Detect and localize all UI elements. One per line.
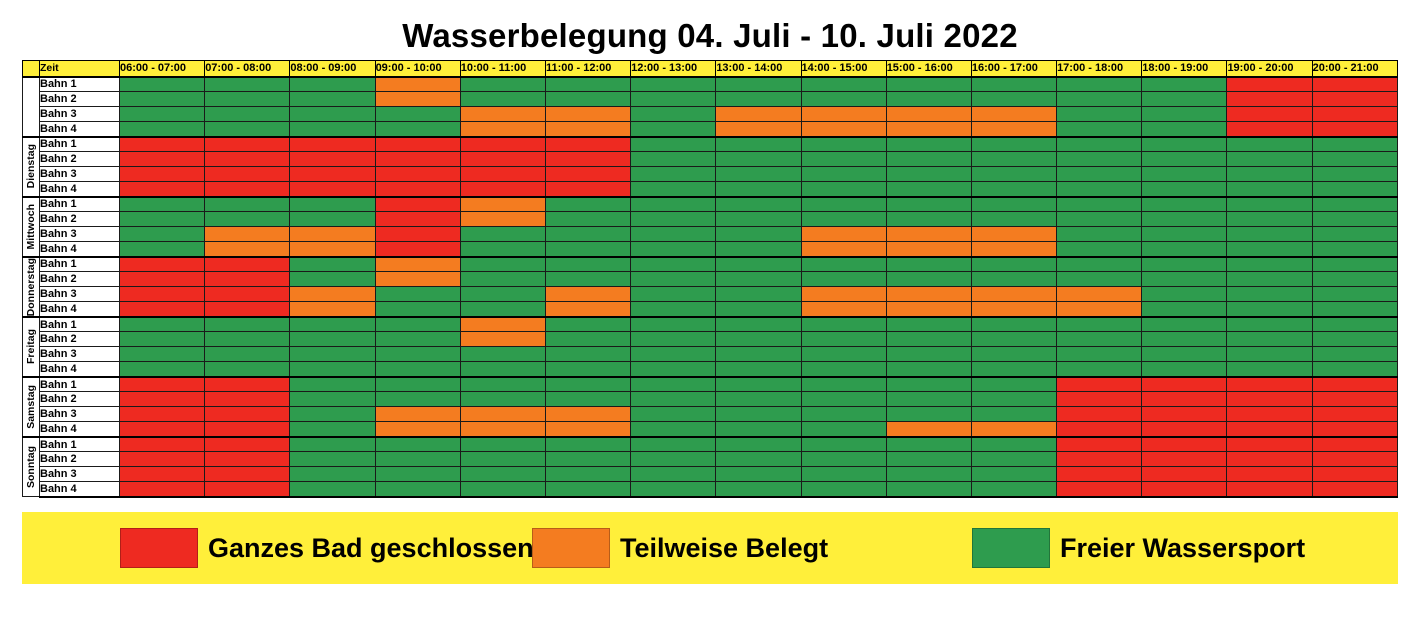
slot-cell[interactable] xyxy=(801,392,886,407)
slot-cell[interactable] xyxy=(1142,287,1227,302)
slot-cell[interactable] xyxy=(1142,452,1227,467)
slot-cell[interactable] xyxy=(545,347,630,362)
slot-cell[interactable] xyxy=(631,77,716,92)
slot-cell[interactable] xyxy=(886,167,971,182)
slot-cell[interactable] xyxy=(1312,212,1397,227)
slot-cell[interactable] xyxy=(375,347,460,362)
slot-cell[interactable] xyxy=(801,347,886,362)
slot-cell[interactable] xyxy=(1227,257,1312,272)
slot-cell[interactable] xyxy=(631,257,716,272)
slot-cell[interactable] xyxy=(1057,92,1142,107)
slot-cell[interactable] xyxy=(716,347,801,362)
slot-cell[interactable] xyxy=(1142,227,1227,242)
slot-cell[interactable] xyxy=(1227,287,1312,302)
slot-cell[interactable] xyxy=(120,272,205,287)
slot-cell[interactable] xyxy=(886,302,971,317)
slot-cell[interactable] xyxy=(631,437,716,452)
slot-cell[interactable] xyxy=(1227,392,1312,407)
slot-cell[interactable] xyxy=(460,137,545,152)
slot-cell[interactable] xyxy=(1142,347,1227,362)
slot-cell[interactable] xyxy=(716,257,801,272)
slot-cell[interactable] xyxy=(886,77,971,92)
slot-cell[interactable] xyxy=(290,467,375,482)
slot-cell[interactable] xyxy=(1142,302,1227,317)
slot-cell[interactable] xyxy=(290,137,375,152)
slot-cell[interactable] xyxy=(205,362,290,377)
slot-cell[interactable] xyxy=(460,332,545,347)
slot-cell[interactable] xyxy=(375,152,460,167)
slot-cell[interactable] xyxy=(801,272,886,287)
slot-cell[interactable] xyxy=(1227,107,1312,122)
slot-cell[interactable] xyxy=(460,287,545,302)
slot-cell[interactable] xyxy=(886,407,971,422)
slot-cell[interactable] xyxy=(545,272,630,287)
slot-cell[interactable] xyxy=(120,257,205,272)
slot-cell[interactable] xyxy=(120,302,205,317)
slot-cell[interactable] xyxy=(290,257,375,272)
slot-cell[interactable] xyxy=(1057,377,1142,392)
slot-cell[interactable] xyxy=(205,452,290,467)
slot-cell[interactable] xyxy=(1312,197,1397,212)
slot-cell[interactable] xyxy=(375,242,460,257)
slot-cell[interactable] xyxy=(716,242,801,257)
slot-cell[interactable] xyxy=(375,182,460,197)
slot-cell[interactable] xyxy=(120,377,205,392)
slot-cell[interactable] xyxy=(205,347,290,362)
slot-cell[interactable] xyxy=(290,422,375,437)
slot-cell[interactable] xyxy=(801,407,886,422)
slot-cell[interactable] xyxy=(1227,332,1312,347)
slot-cell[interactable] xyxy=(545,482,630,497)
slot-cell[interactable] xyxy=(886,317,971,332)
slot-cell[interactable] xyxy=(716,182,801,197)
slot-cell[interactable] xyxy=(290,107,375,122)
slot-cell[interactable] xyxy=(375,122,460,137)
slot-cell[interactable] xyxy=(631,167,716,182)
slot-cell[interactable] xyxy=(1142,377,1227,392)
slot-cell[interactable] xyxy=(1057,77,1142,92)
slot-cell[interactable] xyxy=(1227,347,1312,362)
slot-cell[interactable] xyxy=(120,197,205,212)
slot-cell[interactable] xyxy=(205,422,290,437)
slot-cell[interactable] xyxy=(1227,212,1312,227)
slot-cell[interactable] xyxy=(1227,167,1312,182)
slot-cell[interactable] xyxy=(971,422,1056,437)
slot-cell[interactable] xyxy=(1057,167,1142,182)
slot-cell[interactable] xyxy=(1227,482,1312,497)
slot-cell[interactable] xyxy=(1057,467,1142,482)
slot-cell[interactable] xyxy=(1312,107,1397,122)
slot-cell[interactable] xyxy=(801,107,886,122)
slot-cell[interactable] xyxy=(460,407,545,422)
slot-cell[interactable] xyxy=(1312,77,1397,92)
slot-cell[interactable] xyxy=(545,377,630,392)
slot-cell[interactable] xyxy=(290,122,375,137)
slot-cell[interactable] xyxy=(290,482,375,497)
slot-cell[interactable] xyxy=(1312,317,1397,332)
slot-cell[interactable] xyxy=(545,437,630,452)
slot-cell[interactable] xyxy=(205,317,290,332)
slot-cell[interactable] xyxy=(886,347,971,362)
slot-cell[interactable] xyxy=(545,167,630,182)
slot-cell[interactable] xyxy=(460,92,545,107)
slot-cell[interactable] xyxy=(205,482,290,497)
slot-cell[interactable] xyxy=(120,152,205,167)
slot-cell[interactable] xyxy=(971,182,1056,197)
slot-cell[interactable] xyxy=(375,257,460,272)
slot-cell[interactable] xyxy=(1057,107,1142,122)
slot-cell[interactable] xyxy=(631,377,716,392)
slot-cell[interactable] xyxy=(1312,287,1397,302)
slot-cell[interactable] xyxy=(205,407,290,422)
slot-cell[interactable] xyxy=(631,242,716,257)
slot-cell[interactable] xyxy=(375,452,460,467)
slot-cell[interactable] xyxy=(1227,197,1312,212)
slot-cell[interactable] xyxy=(1057,302,1142,317)
slot-cell[interactable] xyxy=(460,152,545,167)
slot-cell[interactable] xyxy=(886,92,971,107)
slot-cell[interactable] xyxy=(801,452,886,467)
slot-cell[interactable] xyxy=(545,152,630,167)
slot-cell[interactable] xyxy=(205,182,290,197)
slot-cell[interactable] xyxy=(290,392,375,407)
slot-cell[interactable] xyxy=(545,92,630,107)
slot-cell[interactable] xyxy=(971,212,1056,227)
slot-cell[interactable] xyxy=(886,122,971,137)
slot-cell[interactable] xyxy=(290,407,375,422)
slot-cell[interactable] xyxy=(1057,392,1142,407)
slot-cell[interactable] xyxy=(375,467,460,482)
slot-cell[interactable] xyxy=(801,377,886,392)
slot-cell[interactable] xyxy=(716,422,801,437)
slot-cell[interactable] xyxy=(1227,317,1312,332)
slot-cell[interactable] xyxy=(631,122,716,137)
slot-cell[interactable] xyxy=(460,422,545,437)
slot-cell[interactable] xyxy=(205,122,290,137)
slot-cell[interactable] xyxy=(460,302,545,317)
slot-cell[interactable] xyxy=(886,392,971,407)
slot-cell[interactable] xyxy=(631,197,716,212)
slot-cell[interactable] xyxy=(631,137,716,152)
slot-cell[interactable] xyxy=(631,302,716,317)
slot-cell[interactable] xyxy=(1057,437,1142,452)
slot-cell[interactable] xyxy=(120,77,205,92)
slot-cell[interactable] xyxy=(375,392,460,407)
slot-cell[interactable] xyxy=(375,317,460,332)
slot-cell[interactable] xyxy=(716,452,801,467)
slot-cell[interactable] xyxy=(801,362,886,377)
slot-cell[interactable] xyxy=(1312,332,1397,347)
slot-cell[interactable] xyxy=(290,362,375,377)
slot-cell[interactable] xyxy=(205,227,290,242)
slot-cell[interactable] xyxy=(1227,92,1312,107)
slot-cell[interactable] xyxy=(120,422,205,437)
slot-cell[interactable] xyxy=(290,182,375,197)
slot-cell[interactable] xyxy=(1142,317,1227,332)
slot-cell[interactable] xyxy=(1312,302,1397,317)
slot-cell[interactable] xyxy=(545,302,630,317)
slot-cell[interactable] xyxy=(801,77,886,92)
slot-cell[interactable] xyxy=(205,77,290,92)
slot-cell[interactable] xyxy=(375,302,460,317)
slot-cell[interactable] xyxy=(1312,92,1397,107)
slot-cell[interactable] xyxy=(1227,137,1312,152)
slot-cell[interactable] xyxy=(120,467,205,482)
slot-cell[interactable] xyxy=(1227,422,1312,437)
slot-cell[interactable] xyxy=(971,332,1056,347)
slot-cell[interactable] xyxy=(120,362,205,377)
slot-cell[interactable] xyxy=(120,167,205,182)
slot-cell[interactable] xyxy=(886,287,971,302)
slot-cell[interactable] xyxy=(460,197,545,212)
slot-cell[interactable] xyxy=(1142,257,1227,272)
slot-cell[interactable] xyxy=(290,92,375,107)
slot-cell[interactable] xyxy=(460,227,545,242)
slot-cell[interactable] xyxy=(886,467,971,482)
slot-cell[interactable] xyxy=(801,257,886,272)
slot-cell[interactable] xyxy=(631,107,716,122)
slot-cell[interactable] xyxy=(1312,122,1397,137)
slot-cell[interactable] xyxy=(971,92,1056,107)
slot-cell[interactable] xyxy=(631,272,716,287)
slot-cell[interactable] xyxy=(120,347,205,362)
slot-cell[interactable] xyxy=(460,377,545,392)
slot-cell[interactable] xyxy=(631,332,716,347)
slot-cell[interactable] xyxy=(1142,332,1227,347)
slot-cell[interactable] xyxy=(460,107,545,122)
slot-cell[interactable] xyxy=(1142,152,1227,167)
slot-cell[interactable] xyxy=(1057,347,1142,362)
slot-cell[interactable] xyxy=(886,272,971,287)
slot-cell[interactable] xyxy=(716,362,801,377)
slot-cell[interactable] xyxy=(545,212,630,227)
slot-cell[interactable] xyxy=(716,302,801,317)
slot-cell[interactable] xyxy=(1142,392,1227,407)
slot-cell[interactable] xyxy=(631,212,716,227)
slot-cell[interactable] xyxy=(375,107,460,122)
slot-cell[interactable] xyxy=(1142,182,1227,197)
slot-cell[interactable] xyxy=(1227,272,1312,287)
slot-cell[interactable] xyxy=(120,182,205,197)
slot-cell[interactable] xyxy=(716,482,801,497)
slot-cell[interactable] xyxy=(460,182,545,197)
slot-cell[interactable] xyxy=(120,287,205,302)
slot-cell[interactable] xyxy=(716,92,801,107)
slot-cell[interactable] xyxy=(801,92,886,107)
slot-cell[interactable] xyxy=(631,407,716,422)
slot-cell[interactable] xyxy=(545,227,630,242)
slot-cell[interactable] xyxy=(545,467,630,482)
slot-cell[interactable] xyxy=(375,272,460,287)
slot-cell[interactable] xyxy=(1227,77,1312,92)
slot-cell[interactable] xyxy=(886,422,971,437)
slot-cell[interactable] xyxy=(1142,167,1227,182)
slot-cell[interactable] xyxy=(801,317,886,332)
slot-cell[interactable] xyxy=(631,362,716,377)
slot-cell[interactable] xyxy=(460,467,545,482)
slot-cell[interactable] xyxy=(375,377,460,392)
slot-cell[interactable] xyxy=(971,77,1056,92)
slot-cell[interactable] xyxy=(716,467,801,482)
slot-cell[interactable] xyxy=(886,377,971,392)
slot-cell[interactable] xyxy=(631,152,716,167)
slot-cell[interactable] xyxy=(1312,272,1397,287)
slot-cell[interactable] xyxy=(545,287,630,302)
slot-cell[interactable] xyxy=(1142,362,1227,377)
slot-cell[interactable] xyxy=(631,182,716,197)
slot-cell[interactable] xyxy=(1057,122,1142,137)
slot-cell[interactable] xyxy=(290,332,375,347)
slot-cell[interactable] xyxy=(375,422,460,437)
slot-cell[interactable] xyxy=(460,317,545,332)
slot-cell[interactable] xyxy=(1142,212,1227,227)
slot-cell[interactable] xyxy=(120,332,205,347)
slot-cell[interactable] xyxy=(375,407,460,422)
slot-cell[interactable] xyxy=(375,227,460,242)
slot-cell[interactable] xyxy=(205,242,290,257)
slot-cell[interactable] xyxy=(460,392,545,407)
slot-cell[interactable] xyxy=(545,257,630,272)
slot-cell[interactable] xyxy=(120,317,205,332)
slot-cell[interactable] xyxy=(545,422,630,437)
slot-cell[interactable] xyxy=(205,167,290,182)
slot-cell[interactable] xyxy=(971,272,1056,287)
slot-cell[interactable] xyxy=(886,482,971,497)
slot-cell[interactable] xyxy=(971,317,1056,332)
slot-cell[interactable] xyxy=(460,257,545,272)
slot-cell[interactable] xyxy=(205,212,290,227)
slot-cell[interactable] xyxy=(716,377,801,392)
slot-cell[interactable] xyxy=(1057,452,1142,467)
slot-cell[interactable] xyxy=(631,482,716,497)
slot-cell[interactable] xyxy=(1142,92,1227,107)
slot-cell[interactable] xyxy=(1057,287,1142,302)
slot-cell[interactable] xyxy=(1312,467,1397,482)
slot-cell[interactable] xyxy=(631,317,716,332)
slot-cell[interactable] xyxy=(290,272,375,287)
slot-cell[interactable] xyxy=(971,437,1056,452)
slot-cell[interactable] xyxy=(120,107,205,122)
slot-cell[interactable] xyxy=(545,77,630,92)
slot-cell[interactable] xyxy=(971,287,1056,302)
slot-cell[interactable] xyxy=(460,167,545,182)
slot-cell[interactable] xyxy=(971,392,1056,407)
slot-cell[interactable] xyxy=(1312,482,1397,497)
slot-cell[interactable] xyxy=(1057,332,1142,347)
slot-cell[interactable] xyxy=(460,242,545,257)
slot-cell[interactable] xyxy=(1227,152,1312,167)
slot-cell[interactable] xyxy=(1057,197,1142,212)
slot-cell[interactable] xyxy=(1057,242,1142,257)
slot-cell[interactable] xyxy=(290,317,375,332)
slot-cell[interactable] xyxy=(971,377,1056,392)
slot-cell[interactable] xyxy=(1312,437,1397,452)
slot-cell[interactable] xyxy=(205,302,290,317)
slot-cell[interactable] xyxy=(1227,302,1312,317)
slot-cell[interactable] xyxy=(716,272,801,287)
slot-cell[interactable] xyxy=(971,242,1056,257)
slot-cell[interactable] xyxy=(290,167,375,182)
slot-cell[interactable] xyxy=(375,197,460,212)
slot-cell[interactable] xyxy=(460,347,545,362)
slot-cell[interactable] xyxy=(716,317,801,332)
slot-cell[interactable] xyxy=(971,467,1056,482)
slot-cell[interactable] xyxy=(460,212,545,227)
slot-cell[interactable] xyxy=(120,137,205,152)
slot-cell[interactable] xyxy=(631,92,716,107)
slot-cell[interactable] xyxy=(375,167,460,182)
slot-cell[interactable] xyxy=(716,197,801,212)
slot-cell[interactable] xyxy=(801,137,886,152)
slot-cell[interactable] xyxy=(1312,227,1397,242)
slot-cell[interactable] xyxy=(801,122,886,137)
slot-cell[interactable] xyxy=(290,377,375,392)
slot-cell[interactable] xyxy=(545,137,630,152)
slot-cell[interactable] xyxy=(1312,392,1397,407)
slot-cell[interactable] xyxy=(290,287,375,302)
slot-cell[interactable] xyxy=(205,257,290,272)
slot-cell[interactable] xyxy=(631,422,716,437)
slot-cell[interactable] xyxy=(631,227,716,242)
slot-cell[interactable] xyxy=(1057,227,1142,242)
slot-cell[interactable] xyxy=(375,287,460,302)
slot-cell[interactable] xyxy=(631,287,716,302)
slot-cell[interactable] xyxy=(1142,137,1227,152)
slot-cell[interactable] xyxy=(375,77,460,92)
slot-cell[interactable] xyxy=(886,437,971,452)
slot-cell[interactable] xyxy=(971,152,1056,167)
slot-cell[interactable] xyxy=(375,482,460,497)
slot-cell[interactable] xyxy=(460,122,545,137)
slot-cell[interactable] xyxy=(886,242,971,257)
slot-cell[interactable] xyxy=(716,332,801,347)
slot-cell[interactable] xyxy=(1227,437,1312,452)
slot-cell[interactable] xyxy=(1312,167,1397,182)
slot-cell[interactable] xyxy=(1312,182,1397,197)
slot-cell[interactable] xyxy=(801,182,886,197)
slot-cell[interactable] xyxy=(205,392,290,407)
slot-cell[interactable] xyxy=(886,137,971,152)
slot-cell[interactable] xyxy=(290,212,375,227)
slot-cell[interactable] xyxy=(1312,152,1397,167)
slot-cell[interactable] xyxy=(716,107,801,122)
slot-cell[interactable] xyxy=(1312,377,1397,392)
slot-cell[interactable] xyxy=(460,77,545,92)
slot-cell[interactable] xyxy=(1057,272,1142,287)
slot-cell[interactable] xyxy=(545,407,630,422)
slot-cell[interactable] xyxy=(290,152,375,167)
slot-cell[interactable] xyxy=(1227,122,1312,137)
slot-cell[interactable] xyxy=(801,227,886,242)
slot-cell[interactable] xyxy=(971,302,1056,317)
slot-cell[interactable] xyxy=(375,437,460,452)
slot-cell[interactable] xyxy=(886,212,971,227)
slot-cell[interactable] xyxy=(971,257,1056,272)
slot-cell[interactable] xyxy=(460,482,545,497)
slot-cell[interactable] xyxy=(120,212,205,227)
slot-cell[interactable] xyxy=(1057,407,1142,422)
slot-cell[interactable] xyxy=(290,302,375,317)
slot-cell[interactable] xyxy=(1142,107,1227,122)
slot-cell[interactable] xyxy=(460,272,545,287)
slot-cell[interactable] xyxy=(545,182,630,197)
slot-cell[interactable] xyxy=(205,152,290,167)
slot-cell[interactable] xyxy=(716,212,801,227)
slot-cell[interactable] xyxy=(205,92,290,107)
slot-cell[interactable] xyxy=(886,107,971,122)
slot-cell[interactable] xyxy=(1057,137,1142,152)
slot-cell[interactable] xyxy=(1227,182,1312,197)
